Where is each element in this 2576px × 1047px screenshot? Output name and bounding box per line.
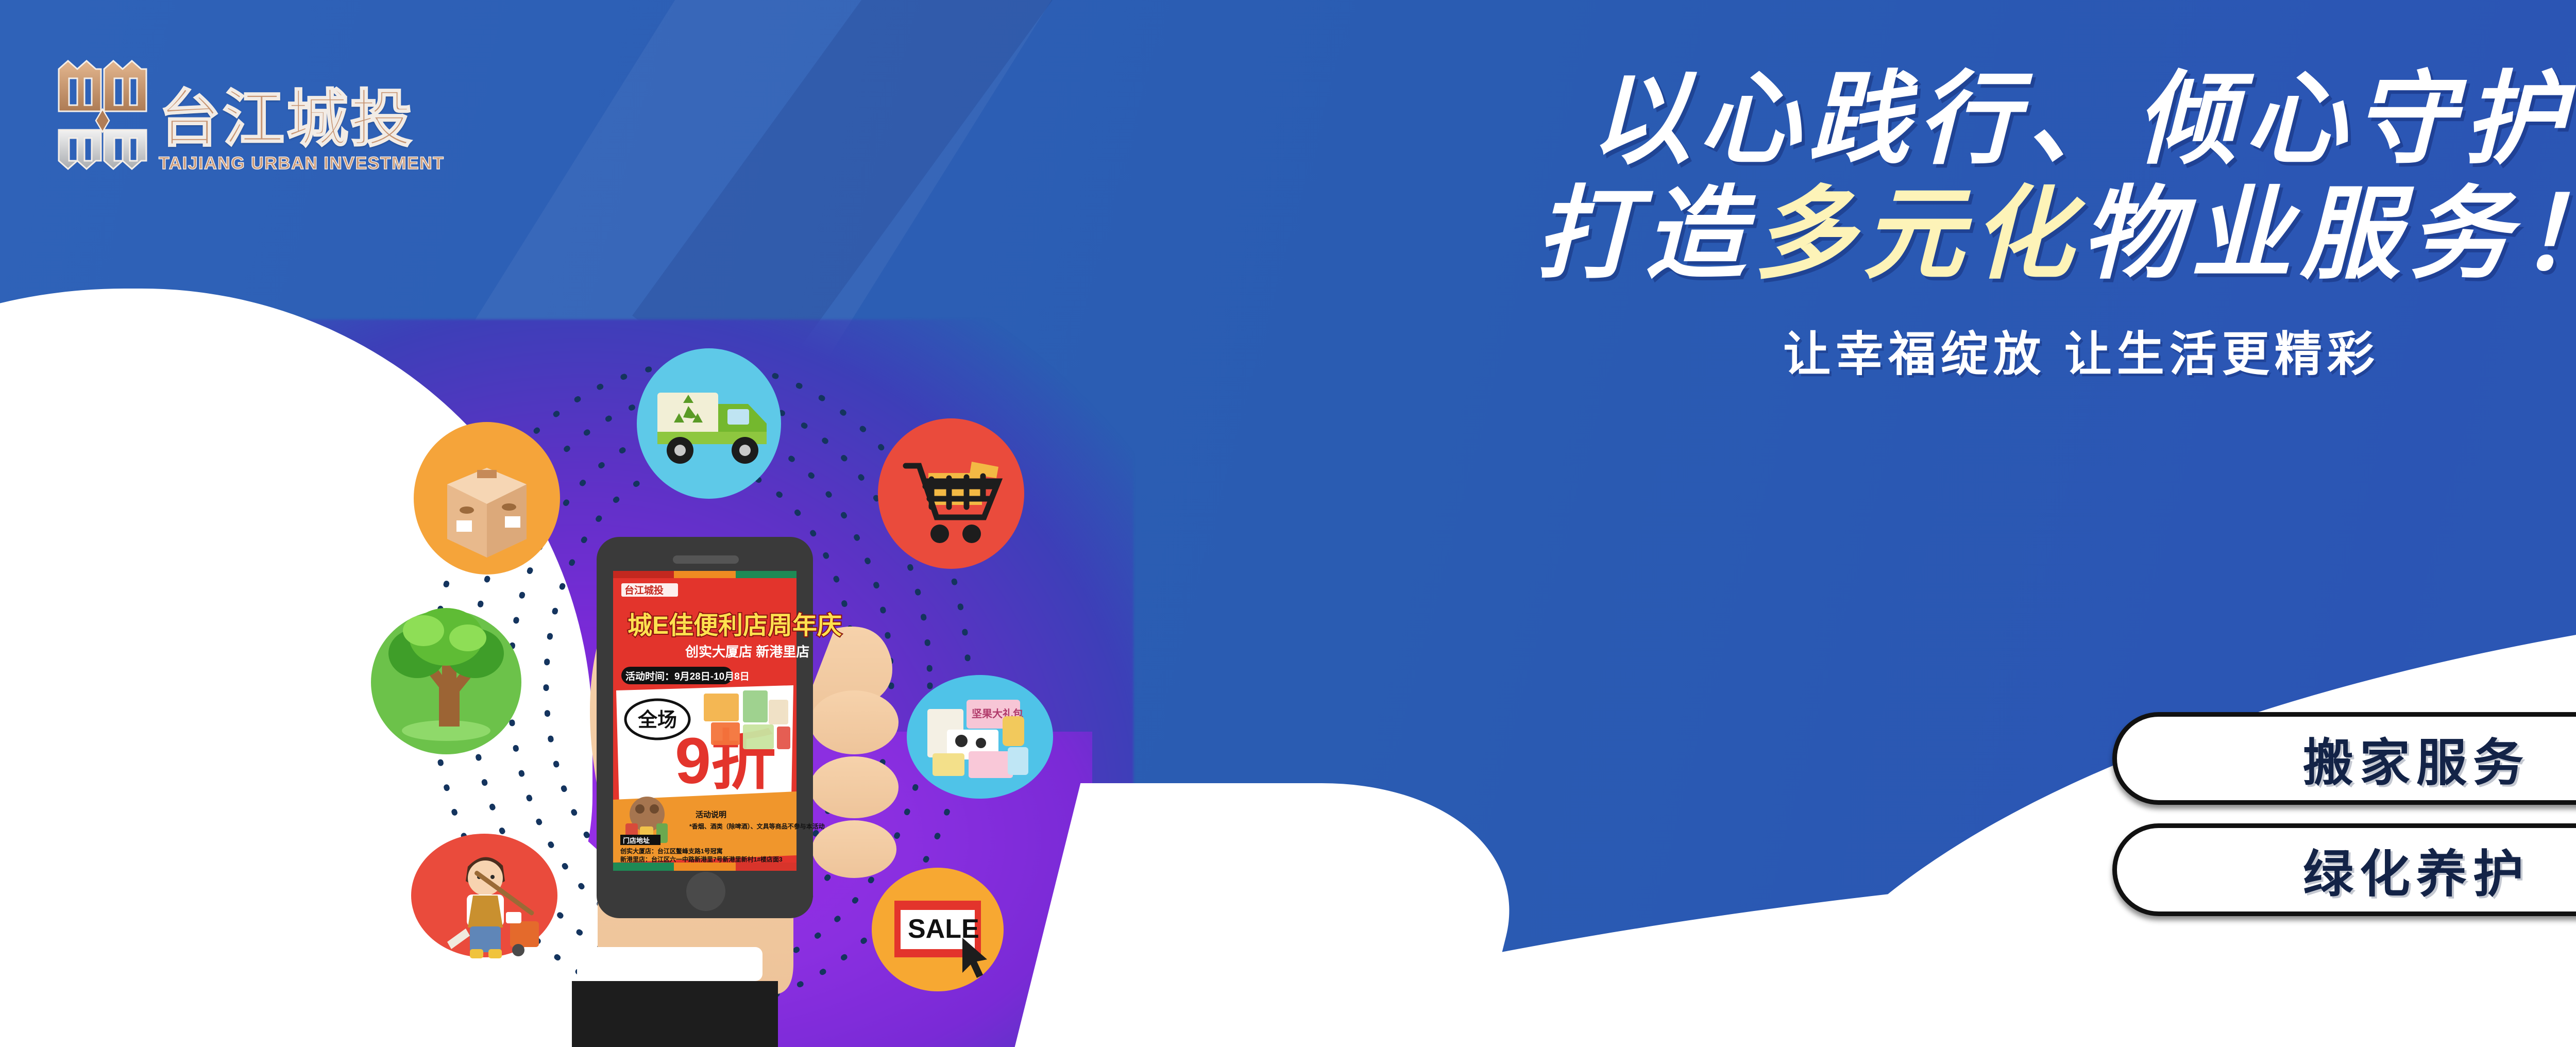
smartphone: 台江城投 城E佳便利店周年庆 创实大厦店 新港里店 活动时间：9月28日-10月… — [597, 537, 842, 918]
headline-subtitle: 让幸福绽放 让生活更精彩 — [1180, 316, 2576, 384]
logo-chinese-name: 台江城投 — [159, 88, 444, 150]
svg-text:城E佳便利店周年庆: 城E佳便利店周年庆 — [628, 612, 842, 639]
headline-line-1: 以心践行、倾心守护 — [1180, 62, 2576, 177]
svg-text:活动说明: 活动说明 — [696, 810, 726, 819]
logo-english-name: TAIJIANG URBAN INVESTMENT — [159, 155, 444, 172]
svg-text:全场: 全场 — [637, 709, 677, 731]
svg-text:新港里店：台江区六一中路新港里7号新港里新村1#楼店面3: 新港里店：台江区六一中路新港里7号新港里新村1#楼店面3 — [620, 855, 783, 863]
service-button-moving[interactable]: 搬家服务 — [2112, 712, 2576, 805]
svg-text:活动时间：9月28日-10月8日: 活动时间：9月28日-10月8日 — [625, 670, 750, 682]
tree-icon — [371, 608, 521, 754]
svg-text:*香烟、酒类（除啤酒）、文具等商品不参与本活动: *香烟、酒类（除啤酒）、文具等商品不参与本活动 — [689, 822, 825, 830]
moving-box-icon — [414, 422, 560, 575]
headline-line2-part1: 打造 — [1535, 178, 1754, 291]
company-logo: 台江城投 TAIJIANG URBAN INVESTMENT — [56, 58, 444, 172]
shopping-cart-icon — [878, 418, 1024, 569]
headline-line2-part2: 物业服务！ — [2081, 178, 2576, 291]
service-button-greening[interactable]: 绿化养护 — [2112, 823, 2576, 916]
svg-text:创实大厦店：台江区鳌峰支路1号冠寓: 创实大厦店：台江区鳌峰支路1号冠寓 — [620, 847, 723, 855]
headline-block: 以心践行、倾心守护 打造多元化物业服务！ 让幸福绽放 让生活更精彩 — [1180, 62, 2576, 384]
banner-root: 台江城投 TAIJIANG URBAN INVESTMENT 以心践行、倾心守护… — [0, 0, 2576, 1047]
gift-pack-icon: 坚果大礼包 — [907, 675, 1053, 799]
sale-tag-icon: SALE — [872, 868, 1004, 991]
service-label: 绿化养护 — [2303, 833, 2530, 906]
svg-text:门店地址: 门店地址 — [623, 837, 650, 845]
recycling-truck-icon — [637, 348, 781, 499]
svg-text:创实大厦店 新港里店: 创实大厦店 新港里店 — [685, 644, 809, 660]
phone-illustration: 台江城投 城E佳便利店周年庆 创实大厦店 新港里店 活动时间：9月28日-10月… — [355, 356, 1046, 1047]
service-label: 搬家服务 — [2303, 722, 2530, 795]
service-buttons-grid: 搬家服务 商品零售 家政服务 绿化养护 停车服务 环境卫生 — [2112, 712, 2576, 916]
headline-line-2: 打造多元化物业服务！ — [1180, 177, 2576, 292]
svg-text:SALE: SALE — [908, 914, 979, 944]
cleaner-icon — [411, 834, 557, 958]
headline-line2-accent: 多元化 — [1754, 178, 2081, 291]
taijiang-gate-emblem-icon — [56, 58, 149, 172]
svg-text:台江城投: 台江城投 — [624, 584, 664, 596]
